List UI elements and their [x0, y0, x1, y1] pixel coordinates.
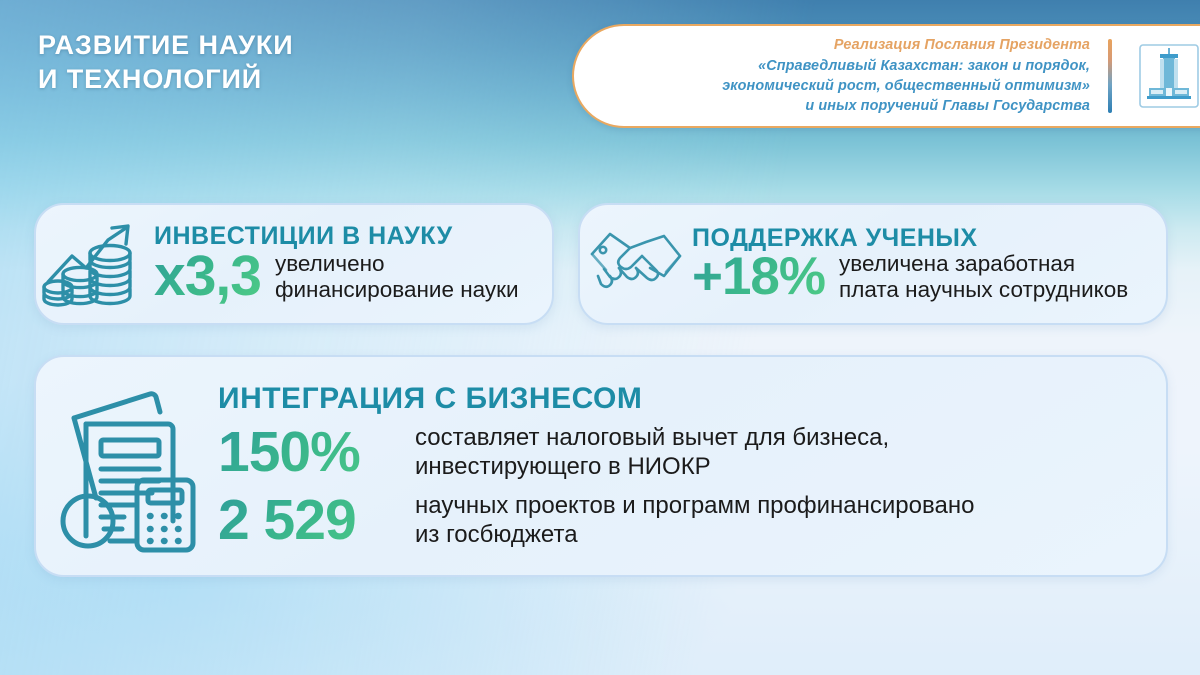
card-investments-in-science[interactable]: ИНВЕСТИЦИИ В НАУКУ x3,3 увеличено финанс… [34, 203, 554, 325]
stat-description-support: увеличена заработная плата научных сотру… [839, 251, 1128, 303]
coins-growth-icon [36, 218, 154, 310]
stat-value-funded-projects: 2 529 [218, 493, 401, 548]
card-business-heading: ИНТЕГРАЦИЯ С БИЗНЕСОМ [218, 383, 1166, 415]
stat-row-funded-projects: 2 529 научных проектов и программ профин… [218, 492, 1166, 550]
decree-badge-text: Реализация Послания Президента «Справедл… [574, 35, 1108, 117]
stat-row-support: +18% увеличена заработная плата научных … [692, 251, 1166, 303]
stat-value-tax-deduction: 150% [218, 425, 401, 480]
card-support-body: ПОДДЕРЖКА УЧЕНЫХ +18% увеличена заработн… [692, 225, 1166, 303]
stat-description-funded-projects: научных проектов и программ профинансиро… [415, 492, 974, 550]
decree-lead-line: Реализация Послания Президента [630, 35, 1090, 55]
stat-value-investments: x3,3 [154, 249, 261, 304]
card-investments-body: ИНВЕСТИЦИИ В НАУКУ x3,3 увеличено финанс… [154, 223, 552, 305]
stat-description-tax-deduction: составляет налоговый вычет для бизнеса, … [415, 424, 889, 482]
government-building-emblem [1134, 39, 1200, 113]
stat-row-investments: x3,3 увеличено финансирование науки [154, 249, 552, 304]
card-support-of-scientists[interactable]: ПОДДЕРЖКА УЧЕНЫХ +18% увеличена заработн… [578, 203, 1168, 325]
page-title: РАЗВИТИЕ НАУКИ И ТЕХНОЛОГИЙ [38, 28, 294, 96]
decree-badge: Реализация Послания Президента «Справедл… [572, 24, 1200, 128]
handshake-icon [580, 221, 692, 307]
card-business-body: ИНТЕГРАЦИЯ С БИЗНЕСОМ 150% составляет на… [214, 383, 1166, 550]
stat-value-support: +18% [692, 251, 825, 302]
stat-description-investments: увеличено финансирование науки [275, 251, 519, 303]
decree-body-lines: «Справедливый Казахстан: закон и порядок… [722, 58, 1090, 115]
decree-divider [1108, 39, 1112, 113]
documents-calculator-icon [44, 371, 214, 561]
card-integration-with-business[interactable]: ИНТЕГРАЦИЯ С БИЗНЕСОМ 150% составляет на… [34, 355, 1168, 577]
stat-row-tax-deduction: 150% составляет налоговый вычет для бизн… [218, 424, 1166, 482]
